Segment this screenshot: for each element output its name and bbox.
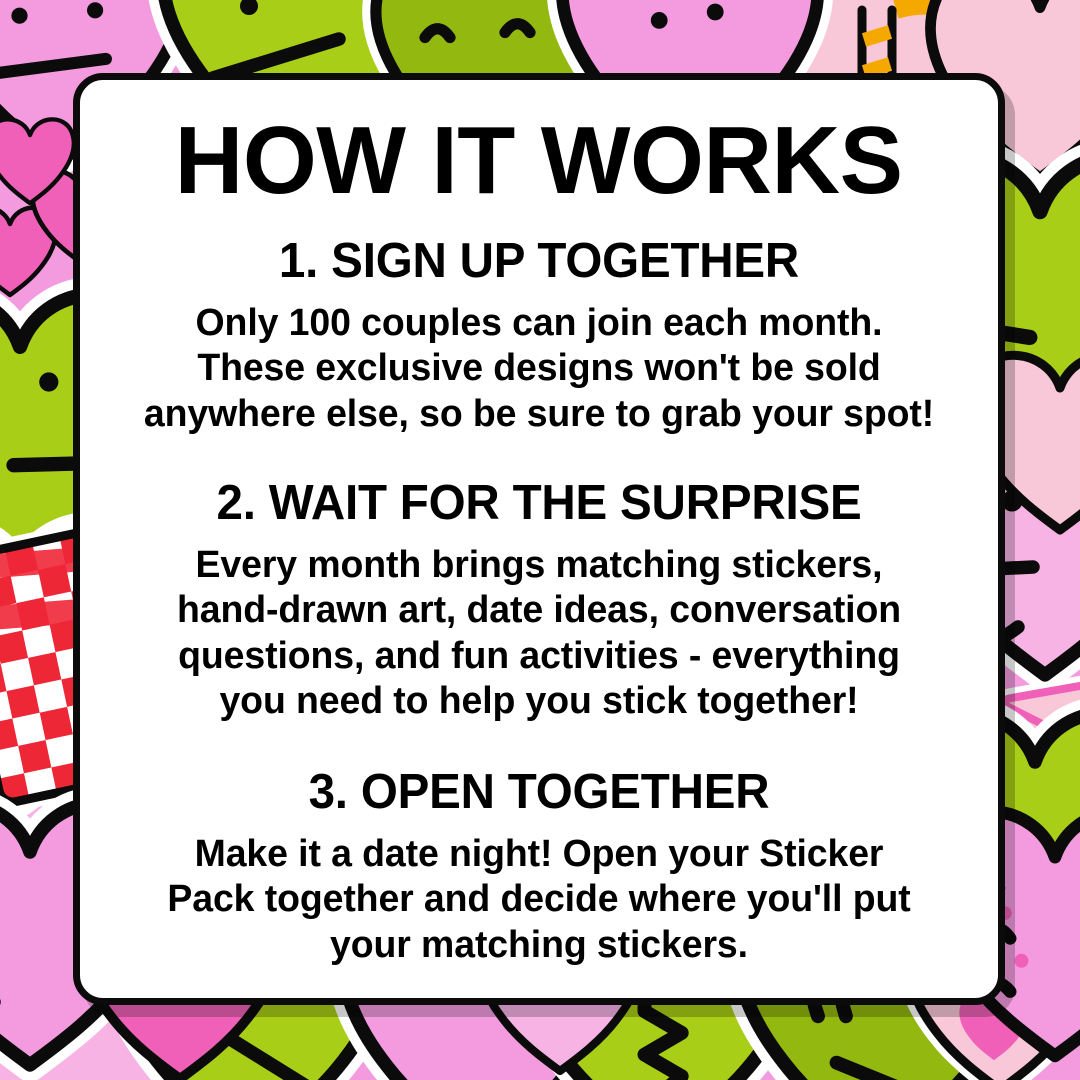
step-1-body: Only 100 couples can join each month. Th… bbox=[120, 301, 957, 438]
step-1-line-2: These exclusive designs won't be sold bbox=[120, 346, 957, 392]
step-2-line-4: you need to help you stick together! bbox=[120, 679, 957, 725]
step-2-heading: 2. WAIT FOR THE SURPRISE bbox=[127, 478, 952, 530]
step-3-line-3: your matching stickers. bbox=[120, 923, 957, 969]
step-3-section: 3. OPEN TOGETHER Make it a date night! O… bbox=[114, 767, 964, 969]
step-1-line-1: Only 100 couples can join each month. bbox=[120, 301, 957, 347]
step-2-section: 2. WAIT FOR THE SURPRISE Every month bri… bbox=[114, 478, 964, 725]
step-3-line-2: Pack together and decide where you'll pu… bbox=[120, 877, 957, 923]
step-1-heading: 1. SIGN UP TOGETHER bbox=[127, 236, 952, 288]
step-2-body: Every month brings matching stickers, ha… bbox=[120, 543, 957, 725]
step-2-line-2: hand-drawn art, date ideas, conversation bbox=[120, 588, 957, 634]
step-2-line-3: questions, and fun activities - everythi… bbox=[120, 634, 957, 680]
step-3-line-1: Make it a date night! Open your Sticker bbox=[120, 832, 957, 878]
page-title: HOW IT WORKS bbox=[175, 112, 903, 210]
step-2-line-1: Every month brings matching stickers, bbox=[120, 543, 957, 589]
step-3-heading: 3. OPEN TOGETHER bbox=[127, 767, 952, 819]
step-3-body: Make it a date night! Open your Sticker … bbox=[120, 832, 957, 969]
step-1-section: 1. SIGN UP TOGETHER Only 100 couples can… bbox=[114, 236, 964, 438]
how-it-works-card: HOW IT WORKS 1. SIGN UP TOGETHER Only 10… bbox=[73, 73, 1005, 1005]
step-1-line-3: anywhere else, so be sure to grab your s… bbox=[120, 392, 957, 438]
